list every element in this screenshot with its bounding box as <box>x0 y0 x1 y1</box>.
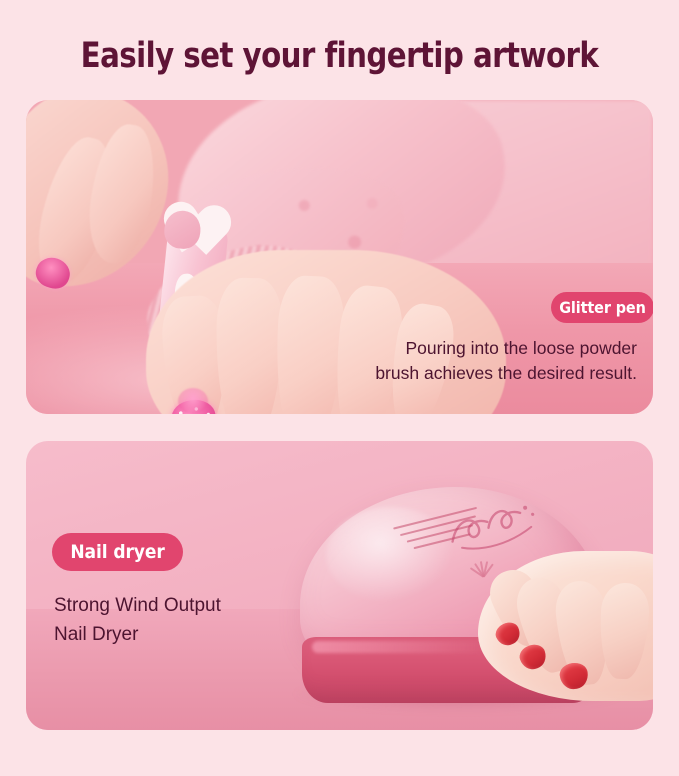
caption-line-2: Nail Dryer <box>54 620 334 649</box>
glitter-powder <box>178 388 208 414</box>
badge-glitter-pen: Glitter pen <box>551 292 653 323</box>
badge-nail-dryer: Nail dryer <box>52 533 183 571</box>
caption-line-2: brush achieves the desired result. <box>337 361 637 386</box>
nail-dryer-photo <box>26 441 653 730</box>
dryer-base-highlight <box>312 641 492 653</box>
nail-dryer-caption: Strong Wind Output Nail Dryer <box>54 591 334 649</box>
caption-line-1: Pouring into the loose powder <box>337 336 637 361</box>
section-glitter-pen: Glitter pen Pouring into the loose powde… <box>26 100 653 414</box>
glitter-pen-caption: Pouring into the loose powder brush achi… <box>337 336 637 386</box>
finger <box>215 277 284 414</box>
caption-line-1: Strong Wind Output <box>54 591 334 620</box>
product-feature-page: Easily set your fingertip artwork <box>0 0 679 776</box>
section-nail-dryer <box>26 441 653 730</box>
page-title: Easily set your fingertip artwork <box>24 36 655 76</box>
